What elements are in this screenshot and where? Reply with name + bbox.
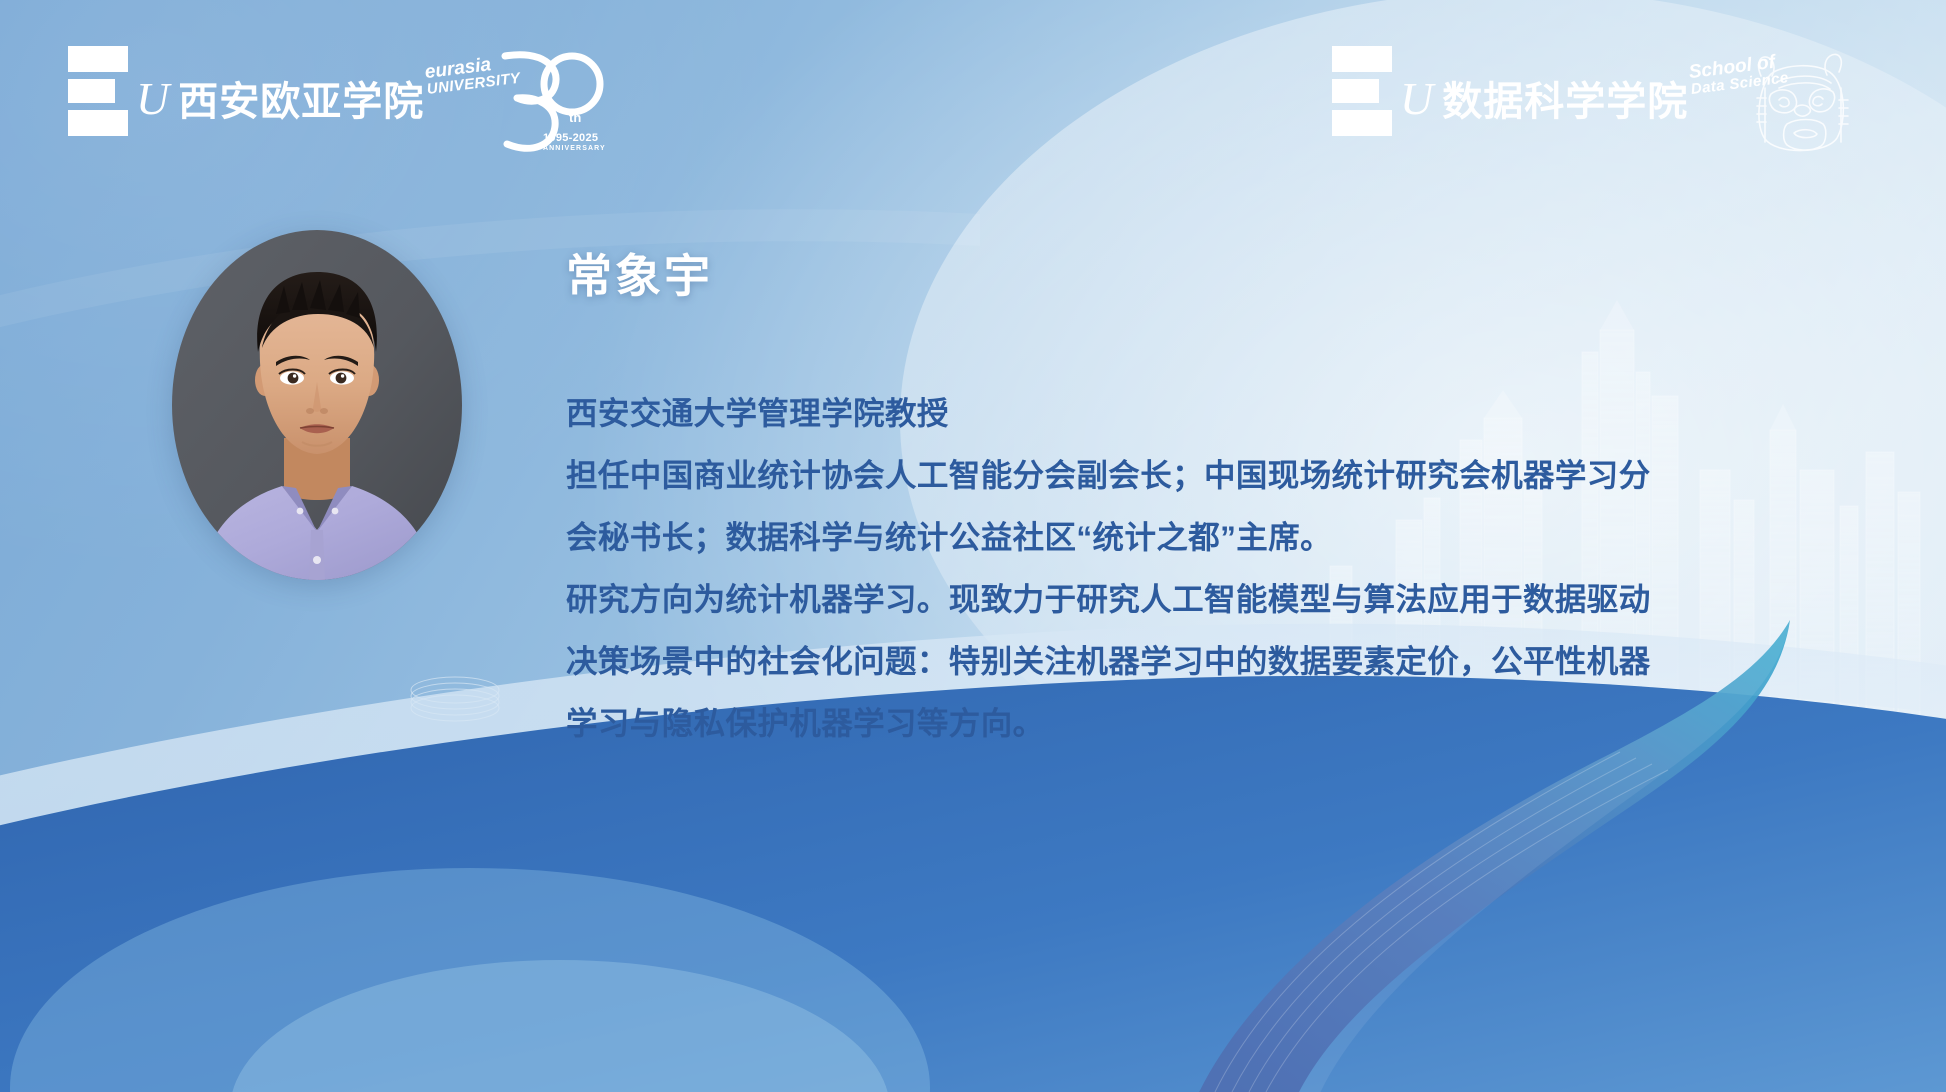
- anniversary-years: 1995-2025: [543, 132, 598, 144]
- speaker-portrait: [172, 230, 462, 580]
- school-logo-script: U: [1400, 76, 1433, 122]
- header-logo-bar: U 西安欧亚学院 eurasia UNIVERSITY th 1995-2025…: [0, 0, 1946, 170]
- speaker-bio: 西安交通大学管理学院教授 担任中国商业统计协会人工智能分会副会长；中国现场统计研…: [566, 382, 1866, 754]
- school-logo: U 数据科学学院 School of Data Science: [1332, 46, 1790, 136]
- school-e-mark-icon: [1332, 46, 1392, 136]
- wire-disc-1: [513, 804, 633, 876]
- anniversary-ordinal: th: [569, 110, 581, 125]
- wire-disc-2: [822, 858, 978, 934]
- school-logo-cn-name: 数据科学学院: [1442, 82, 1688, 122]
- university-logo-script: U: [136, 76, 169, 122]
- panda-mascot-icon: [1735, 42, 1865, 160]
- university-logo-cn-name: 西安欧亚学院: [178, 82, 424, 122]
- speaker-bio-text: 西安交通大学管理学院教授 担任中国商业统计协会人工智能分会副会长；中国现场统计研…: [566, 382, 1866, 754]
- speaker-intro-slide: U 西安欧亚学院 eurasia UNIVERSITY th 1995-2025…: [0, 0, 1946, 1092]
- speaker-name: 常象宇: [566, 240, 713, 306]
- anniversary-caption: ANNIVERSARY: [543, 145, 606, 152]
- anniversary-logo: th 1995-2025 ANNIVERSARY: [487, 44, 607, 156]
- eu-e-mark-icon: [68, 46, 128, 136]
- contour-lines: [820, 733, 1946, 1081]
- wire-disc-3: [411, 677, 499, 721]
- university-logo: U 西安欧亚学院 eurasia UNIVERSITY: [68, 46, 522, 136]
- avatar: [172, 230, 462, 580]
